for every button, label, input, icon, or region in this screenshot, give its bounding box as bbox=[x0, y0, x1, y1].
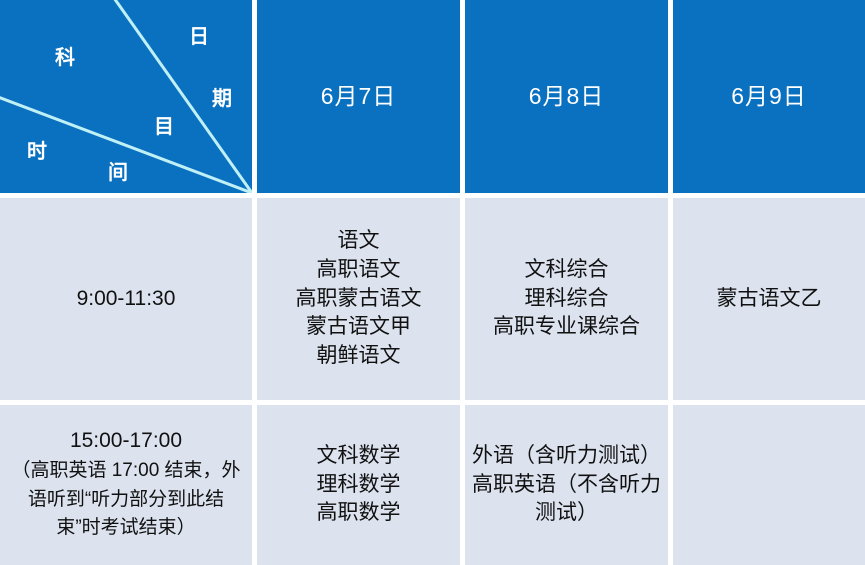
subject-item: 高职数学 bbox=[317, 499, 401, 528]
column-header-day-2: 6月8日 bbox=[465, 0, 668, 193]
column-header-day-1: 6月7日 bbox=[257, 0, 460, 193]
subject-cell-day2-afternoon: 外语（含听力测试） 高职英语（不含听力测试） bbox=[465, 405, 668, 565]
column-header-day-2-label: 6月8日 bbox=[529, 81, 605, 113]
subject-item: 高职蒙古语文 bbox=[296, 285, 422, 314]
subject-cell-day1-morning: 语文 高职语文 高职蒙古语文 蒙古语文甲 朝鲜语文 bbox=[257, 198, 460, 400]
time-cell-morning: 9:00-11:30 bbox=[0, 198, 252, 400]
subject-cell-day2-morning: 文科综合 理科综合 高职专业课综合 bbox=[465, 198, 668, 400]
corner-label-subject-2: 目 bbox=[154, 117, 174, 137]
time-cell-afternoon-range: 15:00-17:00 bbox=[70, 427, 182, 456]
subject-item: 理科数学 bbox=[317, 471, 401, 500]
subject-item: 高职语文 bbox=[317, 256, 401, 285]
subject-item: 理科综合 bbox=[525, 285, 609, 314]
subject-item: 外语（含听力测试） bbox=[472, 442, 661, 471]
subject-item: 蒙古语文甲 bbox=[306, 313, 411, 342]
subject-item: 文科综合 bbox=[525, 256, 609, 285]
corner-label-date-1: 日 bbox=[189, 27, 209, 47]
subject-cell-day3-afternoon bbox=[673, 405, 865, 565]
subject-item: 高职专业课综合 bbox=[493, 313, 640, 342]
corner-diagonal-header: 科 目 日 期 时 间 bbox=[0, 0, 252, 193]
corner-label-date-2: 期 bbox=[212, 89, 232, 109]
corner-label-subject-1: 科 bbox=[55, 48, 75, 68]
column-header-day-3: 6月9日 bbox=[673, 0, 865, 193]
subject-item: 文科数学 bbox=[317, 442, 401, 471]
corner-label-time-2: 间 bbox=[108, 163, 128, 183]
time-cell-morning-range: 9:00-11:30 bbox=[77, 285, 176, 314]
column-header-day-1-label: 6月7日 bbox=[321, 81, 397, 113]
subject-cell-day1-afternoon: 文科数学 理科数学 高职数学 bbox=[257, 405, 460, 565]
subject-item: 朝鲜语文 bbox=[317, 342, 401, 371]
subject-item: 语文 bbox=[338, 227, 380, 256]
subject-item: 高职英语（不含听力测试） bbox=[471, 471, 662, 529]
subject-item: 蒙古语文乙 bbox=[717, 285, 822, 314]
time-cell-afternoon-note: （高职英语 17:00 结束，外语听到“听力部分到此结束”时考试结束） bbox=[6, 457, 246, 543]
time-cell-afternoon: 15:00-17:00 （高职英语 17:00 结束，外语听到“听力部分到此结束… bbox=[0, 405, 252, 565]
column-header-day-3-label: 6月9日 bbox=[731, 81, 807, 113]
corner-label-time-1: 时 bbox=[27, 142, 47, 162]
exam-schedule-table: 科 目 日 期 时 间 6月7日 6月8日 6月9日 9:00-11:30 语文… bbox=[0, 0, 865, 565]
subject-cell-day3-morning: 蒙古语文乙 bbox=[673, 198, 865, 400]
